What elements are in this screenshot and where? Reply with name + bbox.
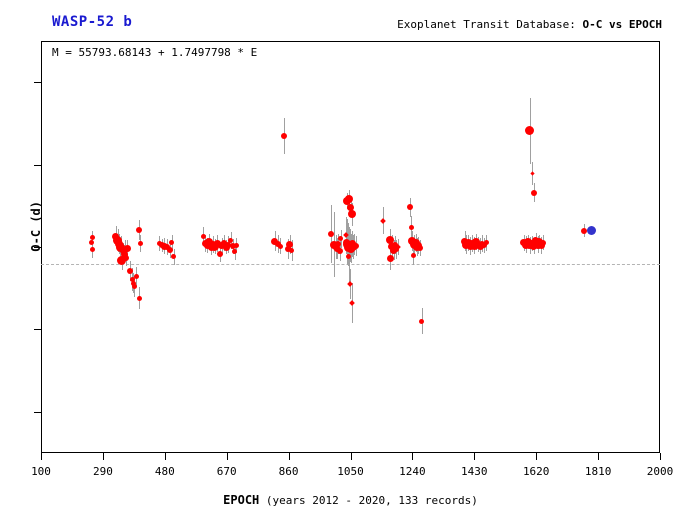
data-point <box>234 243 239 248</box>
x-axis-tick <box>660 453 661 460</box>
data-point <box>281 133 287 139</box>
x-axis-tick-label: 1810 <box>585 465 612 478</box>
data-point <box>132 284 137 289</box>
x-axis-label-note: (years 2012 - 2020, 133 records) <box>266 494 478 507</box>
x-axis-tick-label: 670 <box>217 465 237 478</box>
data-point <box>417 245 423 251</box>
data-point <box>587 226 596 235</box>
x-axis-tick <box>165 453 166 460</box>
data-point <box>137 296 142 301</box>
x-axis-label: EPOCH (years 2012 - 2020, 133 records) <box>41 493 660 507</box>
data-point <box>90 235 95 240</box>
x-axis-tick <box>41 453 42 460</box>
data-point <box>484 240 489 245</box>
x-axis-tick <box>474 453 475 460</box>
data-point <box>328 231 334 237</box>
y-axis-tick <box>34 412 41 413</box>
data-point <box>409 225 414 230</box>
data-point <box>411 253 416 258</box>
data-point <box>201 234 206 239</box>
page-title: WASP-52 b <box>52 14 132 30</box>
data-point <box>167 247 173 253</box>
data-point <box>353 243 359 249</box>
chart-source-label: Exoplanet Transit Database: O-C vs EPOCH <box>397 18 662 31</box>
data-point <box>337 248 343 254</box>
x-axis-tick-label: 860 <box>279 465 299 478</box>
data-point <box>530 172 534 176</box>
x-axis-tick-label: 290 <box>93 465 113 478</box>
x-axis-tick <box>412 453 413 460</box>
data-point <box>90 247 95 252</box>
data-point <box>419 319 424 324</box>
x-axis-tick-label: 100 <box>31 465 51 478</box>
x-axis-tick <box>351 453 352 460</box>
data-point <box>124 245 131 252</box>
x-axis-tick-label: 1620 <box>523 465 550 478</box>
x-axis-tick <box>103 453 104 460</box>
data-point <box>136 227 142 233</box>
data-point <box>278 244 283 249</box>
data-point <box>169 240 174 245</box>
source-text: Exoplanet Transit Database: <box>397 18 576 31</box>
data-point <box>217 251 223 257</box>
zero-reference-line <box>41 264 660 265</box>
x-axis-tick-label: 1050 <box>337 465 364 478</box>
data-point <box>89 240 94 245</box>
x-axis-tick-label: 2000 <box>647 465 674 478</box>
x-axis-tick-label: 1240 <box>399 465 426 478</box>
plot-area: 0.020.01-0.00-0.01-0.0210029048067086010… <box>41 41 660 453</box>
data-point <box>531 190 537 196</box>
x-axis-tick <box>598 453 599 460</box>
data-point <box>525 126 534 135</box>
y-axis-tick <box>34 329 41 330</box>
data-point <box>540 240 546 246</box>
data-point <box>289 248 294 253</box>
x-axis-label-main: EPOCH <box>223 493 259 507</box>
y-axis-label: O-C (d) <box>29 201 43 252</box>
data-point <box>348 210 356 218</box>
data-point <box>380 218 386 224</box>
x-axis-tick <box>536 453 537 460</box>
x-axis-tick <box>227 453 228 460</box>
x-axis-tick-label: 1430 <box>461 465 488 478</box>
data-point <box>123 255 129 261</box>
chart-canvas: WASP-52 b Exoplanet Transit Database: O-… <box>0 0 700 500</box>
data-point <box>134 274 139 279</box>
x-axis-tick-label: 480 <box>155 465 175 478</box>
y-axis-tick <box>34 165 41 166</box>
data-point <box>407 204 413 210</box>
data-point <box>232 249 237 254</box>
plot-type-text: O-C vs EPOCH <box>583 18 662 31</box>
x-axis-tick <box>289 453 290 460</box>
data-point <box>228 238 233 243</box>
data-point <box>387 255 394 262</box>
data-point <box>127 268 133 274</box>
data-point <box>581 228 587 234</box>
y-axis-tick <box>34 82 41 83</box>
data-point <box>349 300 355 306</box>
data-point <box>171 254 176 259</box>
data-point <box>138 241 143 246</box>
